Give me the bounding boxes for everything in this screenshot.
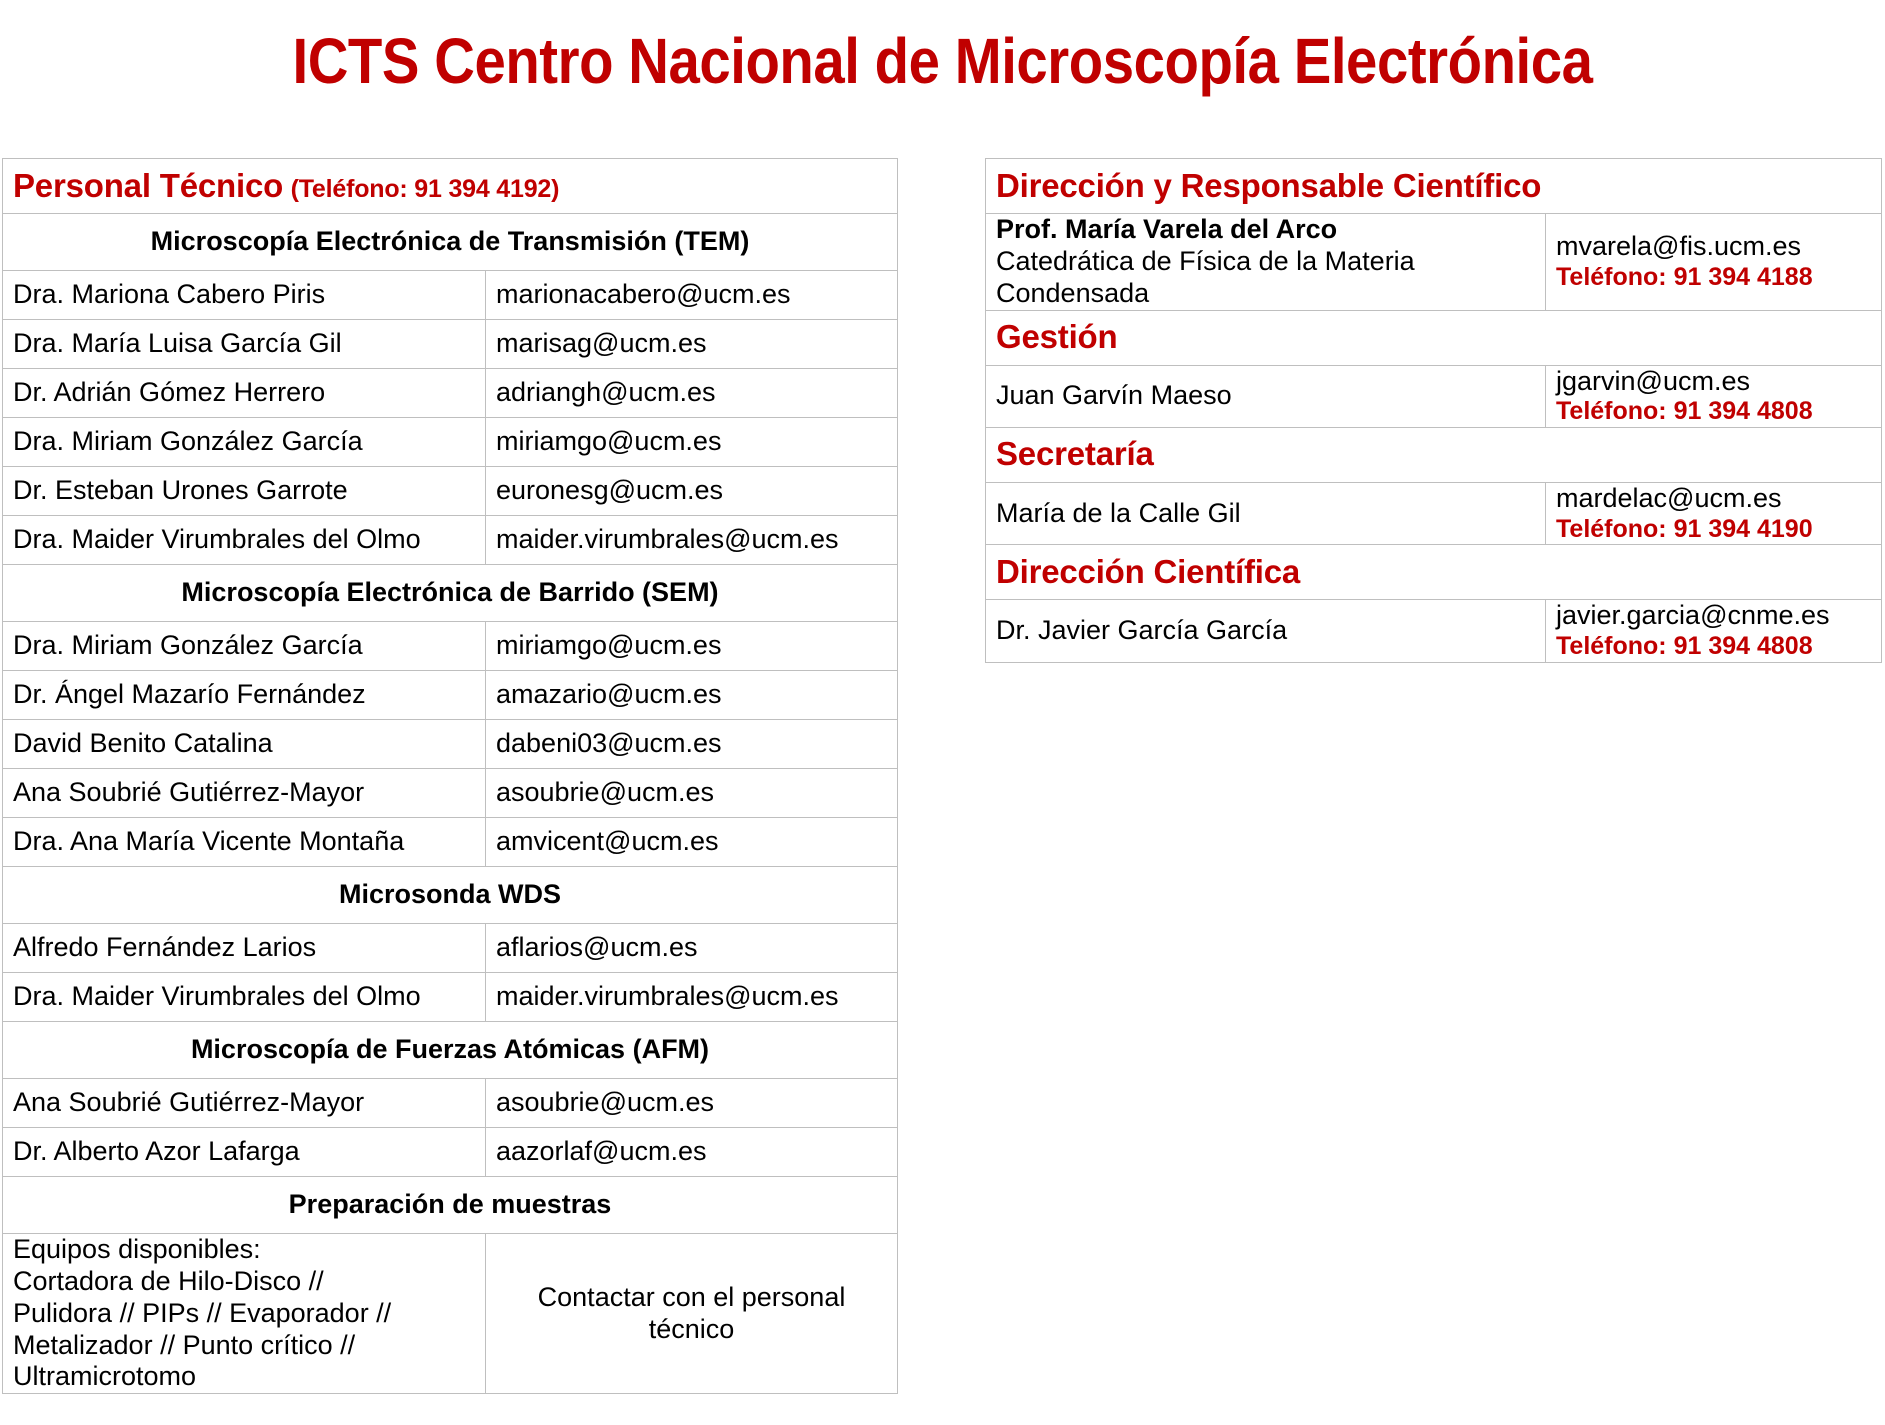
table-row: Dirección Científica — [986, 545, 1882, 600]
person-email[interactable]: mvarela@fis.ucm.es — [1556, 231, 1871, 263]
staff-email[interactable]: marisag@ucm.es — [486, 320, 898, 369]
equipment-contact: Contactar con el personal técnico — [486, 1234, 898, 1394]
staff-name: Dr. Adrián Gómez Herrero — [3, 369, 486, 418]
section-heading-secretaria: Secretaría — [986, 427, 1882, 482]
table-row: David Benito Catalina dabeni03@ucm.es — [3, 720, 898, 769]
table-row: María de la Calle Gil mardelac@ucm.es Te… — [986, 482, 1882, 544]
person-contact: mvarela@fis.ucm.es Teléfono: 91 394 4188 — [1546, 214, 1882, 311]
equipment-line-1: Cortadora de Hilo-Disco // — [13, 1266, 475, 1298]
table-row: Dra. Miriam González García miriamgo@ucm… — [3, 418, 898, 467]
staff-name: Dra. Mariona Cabero Piris — [3, 271, 486, 320]
section-heading-tem: Microscopía Electrónica de Transmisión (… — [3, 214, 898, 271]
personal-tecnico-title: Personal Técnico — [13, 167, 283, 204]
equipment-contact-line-1: Contactar con el personal — [496, 1282, 887, 1314]
person-role-line-2: Condensada — [996, 278, 1535, 310]
staff-name: Dra. Miriam González García — [3, 622, 486, 671]
equipment-line-4: Ultramicrotomo — [13, 1361, 475, 1393]
staff-name: Ana Soubrié Gutiérrez-Mayor — [3, 769, 486, 818]
staff-name: David Benito Catalina — [3, 720, 486, 769]
person-phone: Teléfono: 91 394 4188 — [1556, 263, 1871, 293]
staff-email[interactable]: miriamgo@ucm.es — [486, 418, 898, 467]
table-row: Prof. María Varela del Arco Catedrática … — [986, 214, 1882, 311]
table-row: Preparación de muestras — [3, 1177, 898, 1234]
table-row: Dr. Ángel Mazarío Fernández amazario@ucm… — [3, 671, 898, 720]
person-email[interactable]: mardelac@ucm.es — [1556, 483, 1871, 515]
table-row: Dra. María Luisa García Gil marisag@ucm.… — [3, 320, 898, 369]
section-heading-preparacion: Preparación de muestras — [3, 1177, 898, 1234]
personal-tecnico-header: Personal Técnico (Teléfono: 91 394 4192) — [3, 159, 898, 214]
staff-name: Dr. Ángel Mazarío Fernández — [3, 671, 486, 720]
staff-email[interactable]: amazario@ucm.es — [486, 671, 898, 720]
staff-email[interactable]: miriamgo@ucm.es — [486, 622, 898, 671]
table-row: Dra. Ana María Vicente Montaña amvicent@… — [3, 818, 898, 867]
table-row: Personal Técnico (Teléfono: 91 394 4192) — [3, 159, 898, 214]
table-row: Dra. Miriam González García miriamgo@ucm… — [3, 622, 898, 671]
person-info: Prof. María Varela del Arco Catedrática … — [986, 214, 1546, 311]
staff-name: Dr. Alberto Azor Lafarga — [3, 1128, 486, 1177]
table-row: Secretaría — [986, 427, 1882, 482]
direccion-gestion-table: Dirección y Responsable Científico Prof.… — [985, 158, 1882, 663]
staff-email[interactable]: dabeni03@ucm.es — [486, 720, 898, 769]
person-name: Prof. María Varela del Arco — [996, 214, 1535, 246]
staff-name: Ana Soubrié Gutiérrez-Mayor — [3, 1079, 486, 1128]
table-row: Dirección y Responsable Científico — [986, 159, 1882, 214]
staff-email[interactable]: marionacabero@ucm.es — [486, 271, 898, 320]
staff-name: Dr. Esteban Urones Garrote — [3, 467, 486, 516]
person-name: Juan Garvín Maeso — [986, 365, 1546, 427]
table-row: Dra. Maider Virumbrales del Olmo maider.… — [3, 973, 898, 1022]
page-title: ICTS Centro Nacional de Microscopía Elec… — [113, 22, 1772, 100]
person-name: Dr. Javier García García — [986, 600, 1546, 662]
staff-email[interactable]: aazorlaf@ucm.es — [486, 1128, 898, 1177]
person-phone: Teléfono: 91 394 4808 — [1556, 632, 1871, 662]
staff-name: Dra. Maider Virumbrales del Olmo — [3, 973, 486, 1022]
staff-email[interactable]: amvicent@ucm.es — [486, 818, 898, 867]
staff-name: Dra. Ana María Vicente Montaña — [3, 818, 486, 867]
table-row: Dra. Maider Virumbrales del Olmo maider.… — [3, 516, 898, 565]
section-heading-gestion: Gestión — [986, 310, 1882, 365]
staff-name: Dra. María Luisa García Gil — [3, 320, 486, 369]
table-row: Microscopía de Fuerzas Atómicas (AFM) — [3, 1022, 898, 1079]
table-row: Microsonda WDS — [3, 867, 898, 924]
table-row: Juan Garvín Maeso jgarvin@ucm.es Teléfon… — [986, 365, 1882, 427]
equipment-line-3: Metalizador // Punto crítico // — [13, 1330, 475, 1362]
personal-tecnico-table: Personal Técnico (Teléfono: 91 394 4192)… — [2, 158, 898, 1394]
person-email[interactable]: javier.garcia@cnme.es — [1556, 600, 1871, 632]
table-row: Dra. Mariona Cabero Piris marionacabero@… — [3, 271, 898, 320]
person-role-line-1: Catedrática de Física de la Materia — [996, 246, 1535, 278]
table-row: Dr. Esteban Urones Garrote euronesg@ucm.… — [3, 467, 898, 516]
section-heading-secretaria-text: Secretaría — [996, 435, 1154, 472]
person-phone: Teléfono: 91 394 4808 — [1556, 397, 1871, 427]
person-email[interactable]: jgarvin@ucm.es — [1556, 366, 1871, 398]
person-contact: jgarvin@ucm.es Teléfono: 91 394 4808 — [1546, 365, 1882, 427]
person-name: María de la Calle Gil — [986, 482, 1546, 544]
table-row: Dr. Adrián Gómez Herrero adriangh@ucm.es — [3, 369, 898, 418]
table-row: Dr. Alberto Azor Lafarga aazorlaf@ucm.es — [3, 1128, 898, 1177]
personal-tecnico-phone: (Teléfono: 91 394 4192) — [291, 175, 560, 203]
section-heading-direccion-cientifica-text: Dirección Científica — [996, 553, 1300, 590]
staff-email[interactable]: asoubrie@ucm.es — [486, 1079, 898, 1128]
equipment-list: Equipos disponibles: Cortadora de Hilo-D… — [3, 1234, 486, 1394]
table-row: Microscopía Electrónica de Transmisión (… — [3, 214, 898, 271]
section-heading-direccion-responsable-text: Dirección y Responsable Científico — [996, 167, 1541, 204]
person-contact: javier.garcia@cnme.es Teléfono: 91 394 4… — [1546, 600, 1882, 662]
staff-name: Dra. Maider Virumbrales del Olmo — [3, 516, 486, 565]
section-heading-wds: Microsonda WDS — [3, 867, 898, 924]
staff-email[interactable]: asoubrie@ucm.es — [486, 769, 898, 818]
section-heading-afm: Microscopía de Fuerzas Atómicas (AFM) — [3, 1022, 898, 1079]
staff-name: Alfredo Fernández Larios — [3, 924, 486, 973]
table-row: Ana Soubrié Gutiérrez-Mayor asoubrie@ucm… — [3, 769, 898, 818]
table-row: Microscopía Electrónica de Barrido (SEM) — [3, 565, 898, 622]
staff-name: Dra. Miriam González García — [3, 418, 486, 467]
table-row: Alfredo Fernández Larios aflarios@ucm.es — [3, 924, 898, 973]
equipment-line-2: Pulidora // PIPs // Evaporador // — [13, 1298, 475, 1330]
equipment-contact-line-2: técnico — [496, 1314, 887, 1346]
staff-email[interactable]: adriangh@ucm.es — [486, 369, 898, 418]
section-heading-sem: Microscopía Electrónica de Barrido (SEM) — [3, 565, 898, 622]
section-heading-gestion-text: Gestión — [996, 318, 1117, 355]
staff-email[interactable]: euronesg@ucm.es — [486, 467, 898, 516]
table-row: Ana Soubrié Gutiérrez-Mayor asoubrie@ucm… — [3, 1079, 898, 1128]
staff-email[interactable]: maider.virumbrales@ucm.es — [486, 516, 898, 565]
page-root: ICTS Centro Nacional de Microscopía Elec… — [0, 0, 1885, 1425]
person-phone: Teléfono: 91 394 4190 — [1556, 515, 1871, 545]
person-contact: mardelac@ucm.es Teléfono: 91 394 4190 — [1546, 482, 1882, 544]
section-heading-direccion-responsable: Dirección y Responsable Científico — [986, 159, 1882, 214]
table-row: Gestión — [986, 310, 1882, 365]
table-row: Dr. Javier García García javier.garcia@c… — [986, 600, 1882, 662]
equipment-label: Equipos disponibles: — [13, 1234, 475, 1266]
staff-email[interactable]: maider.virumbrales@ucm.es — [486, 973, 898, 1022]
table-row: Equipos disponibles: Cortadora de Hilo-D… — [3, 1234, 898, 1394]
staff-email[interactable]: aflarios@ucm.es — [486, 924, 898, 973]
section-heading-direccion-cientifica: Dirección Científica — [986, 545, 1882, 600]
